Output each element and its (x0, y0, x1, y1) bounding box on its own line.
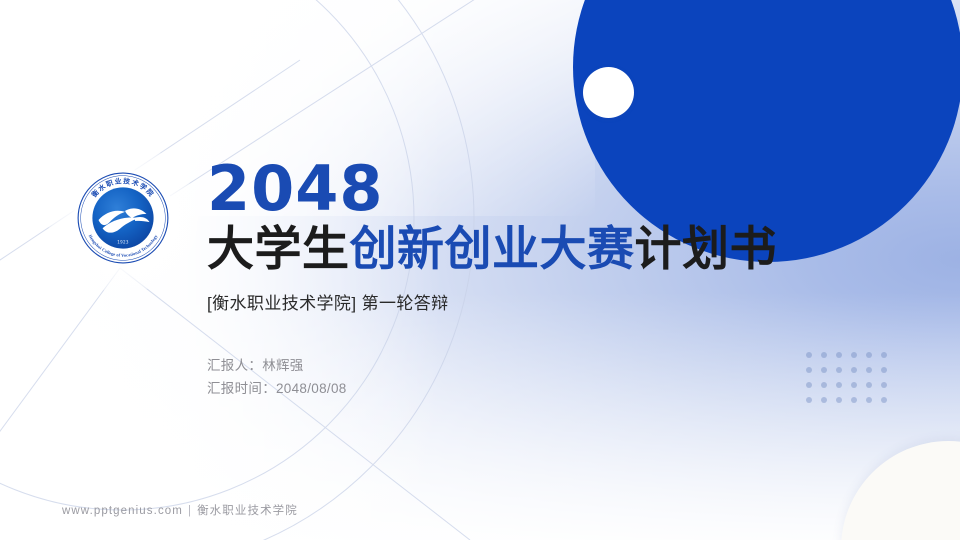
presenter-line: 汇报人：林辉强 (207, 354, 867, 377)
year-heading: 2048 (207, 160, 867, 217)
svg-text:1923: 1923 (117, 240, 129, 245)
title-lead: 大学生 (207, 222, 350, 275)
footer-site: www.pptgenius.com (62, 505, 183, 517)
date-line: 汇报时间：2048/08/08 (207, 377, 867, 400)
title-block: 2048 大学生创新创业大赛计划书 [衡水职业技术学院] 第一轮答辩 汇报人：林… (207, 160, 867, 400)
university-logo: 衡水职业技术学院 Hengshui College of Vocational … (72, 167, 174, 269)
title-highlight: 创新创业大赛 (350, 222, 635, 275)
subtitle: [衡水职业技术学院] 第一轮答辩 (207, 289, 867, 314)
bird-wave-emblem-icon: 衡水职业技术学院 Hengshui College of Vocational … (72, 167, 174, 269)
small-white-circle (583, 67, 634, 118)
presentation-slide: 衡水职业技术学院 Hengshui College of Vocational … (0, 0, 960, 540)
footer-separator: | (188, 505, 192, 517)
presentation-meta: 汇报人：林辉强 汇报时间：2048/08/08 (207, 354, 867, 400)
footer: www.pptgenius.com|衡水职业技术学院 (62, 502, 298, 518)
footer-institution: 衡水职业技术学院 (197, 505, 298, 517)
page-title: 大学生创新创业大赛计划书 (207, 223, 867, 276)
title-tail: 计划书 (635, 222, 778, 275)
